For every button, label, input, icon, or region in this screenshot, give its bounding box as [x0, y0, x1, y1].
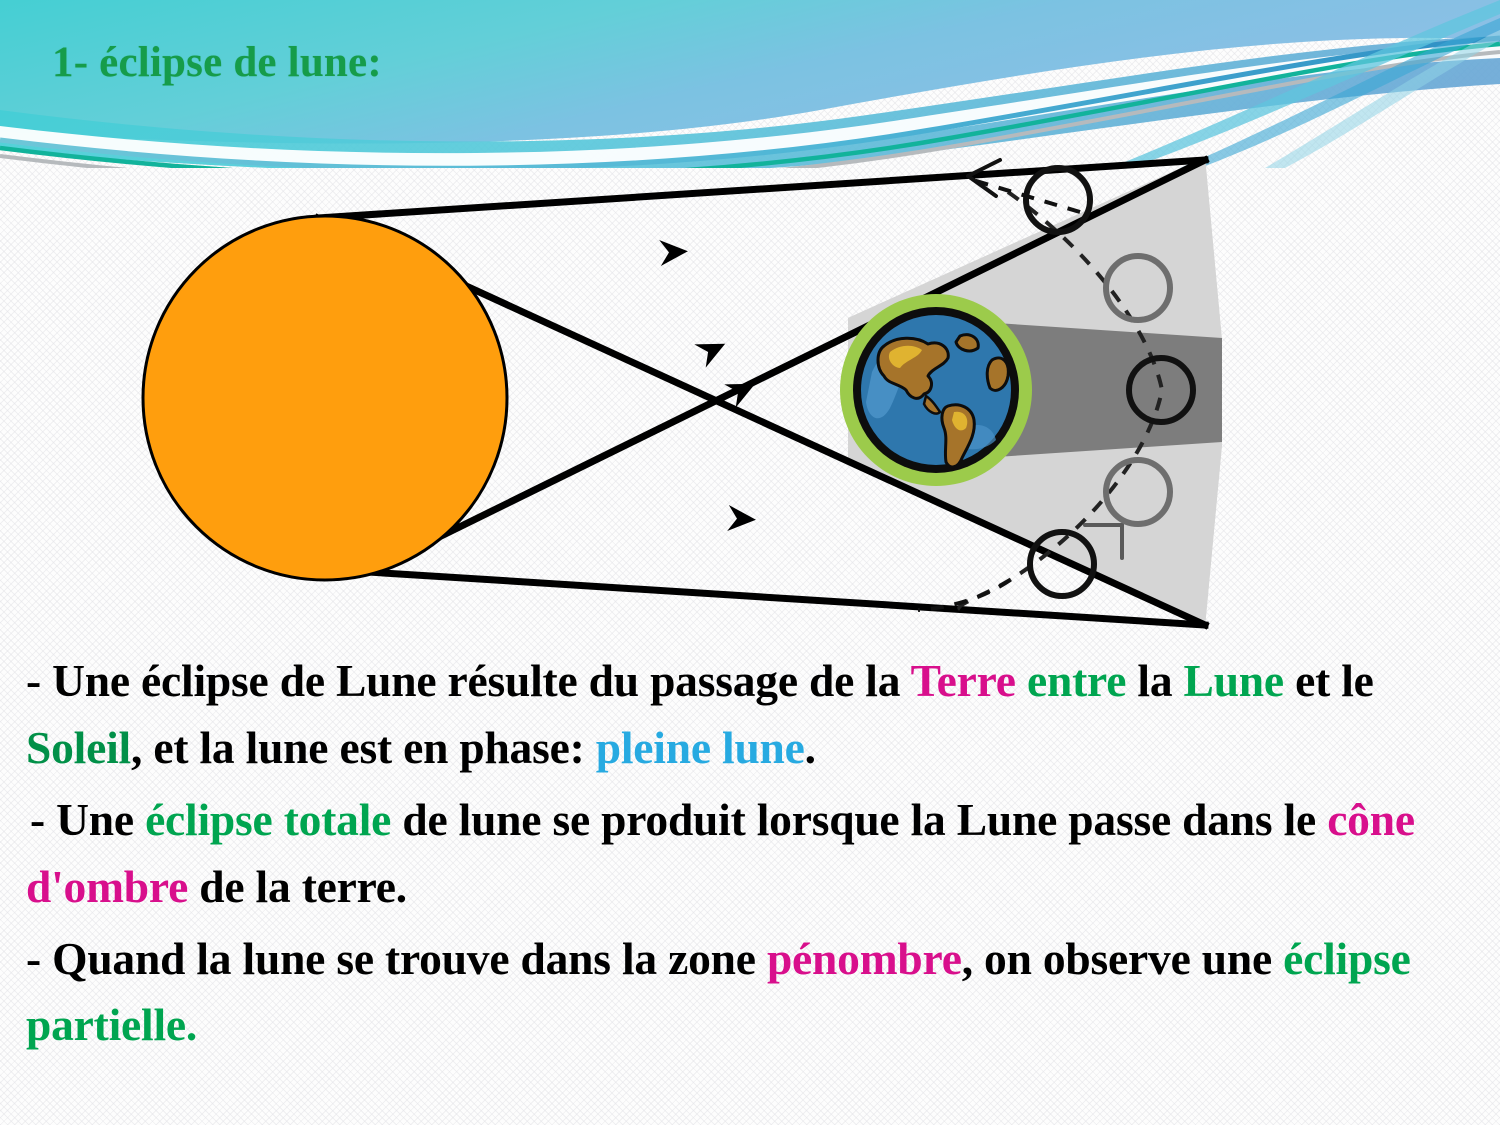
p2-eclipse-totale: éclipse totale — [145, 794, 391, 845]
paragraph-2: - Une éclipse totale de lune se produit … — [26, 787, 1478, 921]
p1-soleil: Soleil — [26, 722, 131, 773]
orbit-arrow-top — [968, 160, 1000, 196]
paragraph-3: - Quand la lune se trouve dans la zone p… — [26, 926, 1478, 1060]
paragraph-1: - Une éclipse de Lune résulte du passage… — [26, 648, 1478, 782]
p1-seg2 — [1016, 655, 1027, 706]
body-text-block: - Une éclipse de Lune résulte du passage… — [26, 648, 1478, 1064]
p1-terre: Terre — [911, 655, 1016, 706]
p2-seg2: de lune se produit lorsque la Lune passe… — [391, 794, 1327, 845]
sun — [143, 216, 507, 580]
p3-penombre: pénombre — [767, 933, 962, 984]
p3-seg2: , on observe une — [962, 933, 1283, 984]
p1-seg4: et le — [1284, 655, 1374, 706]
p2-seg3: de la terre. — [188, 861, 407, 912]
ray-arrowheads — [659, 238, 761, 533]
ray-bottom-to-lower-edge — [368, 572, 1205, 625]
p2-seg1: - Une — [30, 794, 145, 845]
p1-seg3: la — [1126, 655, 1183, 706]
moon-orbit-leadout-top — [966, 178, 1080, 212]
p1-seg1: - Une éclipse de Lune résulte du passage… — [26, 655, 911, 706]
p3-seg1: - Quand la lune se trouve dans la zone — [26, 933, 767, 984]
p1-pleine-lune: pleine lune — [596, 722, 805, 773]
p1-seg5: , et la lune est en phase: — [131, 722, 596, 773]
moon-position-1-outside-top — [1026, 168, 1090, 232]
p1-entre: entre — [1027, 655, 1126, 706]
earth — [840, 294, 1032, 486]
page-title: 1- éclipse de lune: — [52, 38, 382, 87]
slide-root: 1- éclipse de lune: — [0, 0, 1500, 1125]
p1-lune: Lune — [1184, 655, 1284, 706]
p1-seg6: . — [805, 722, 816, 773]
lunar-eclipse-diagram — [0, 140, 1500, 660]
